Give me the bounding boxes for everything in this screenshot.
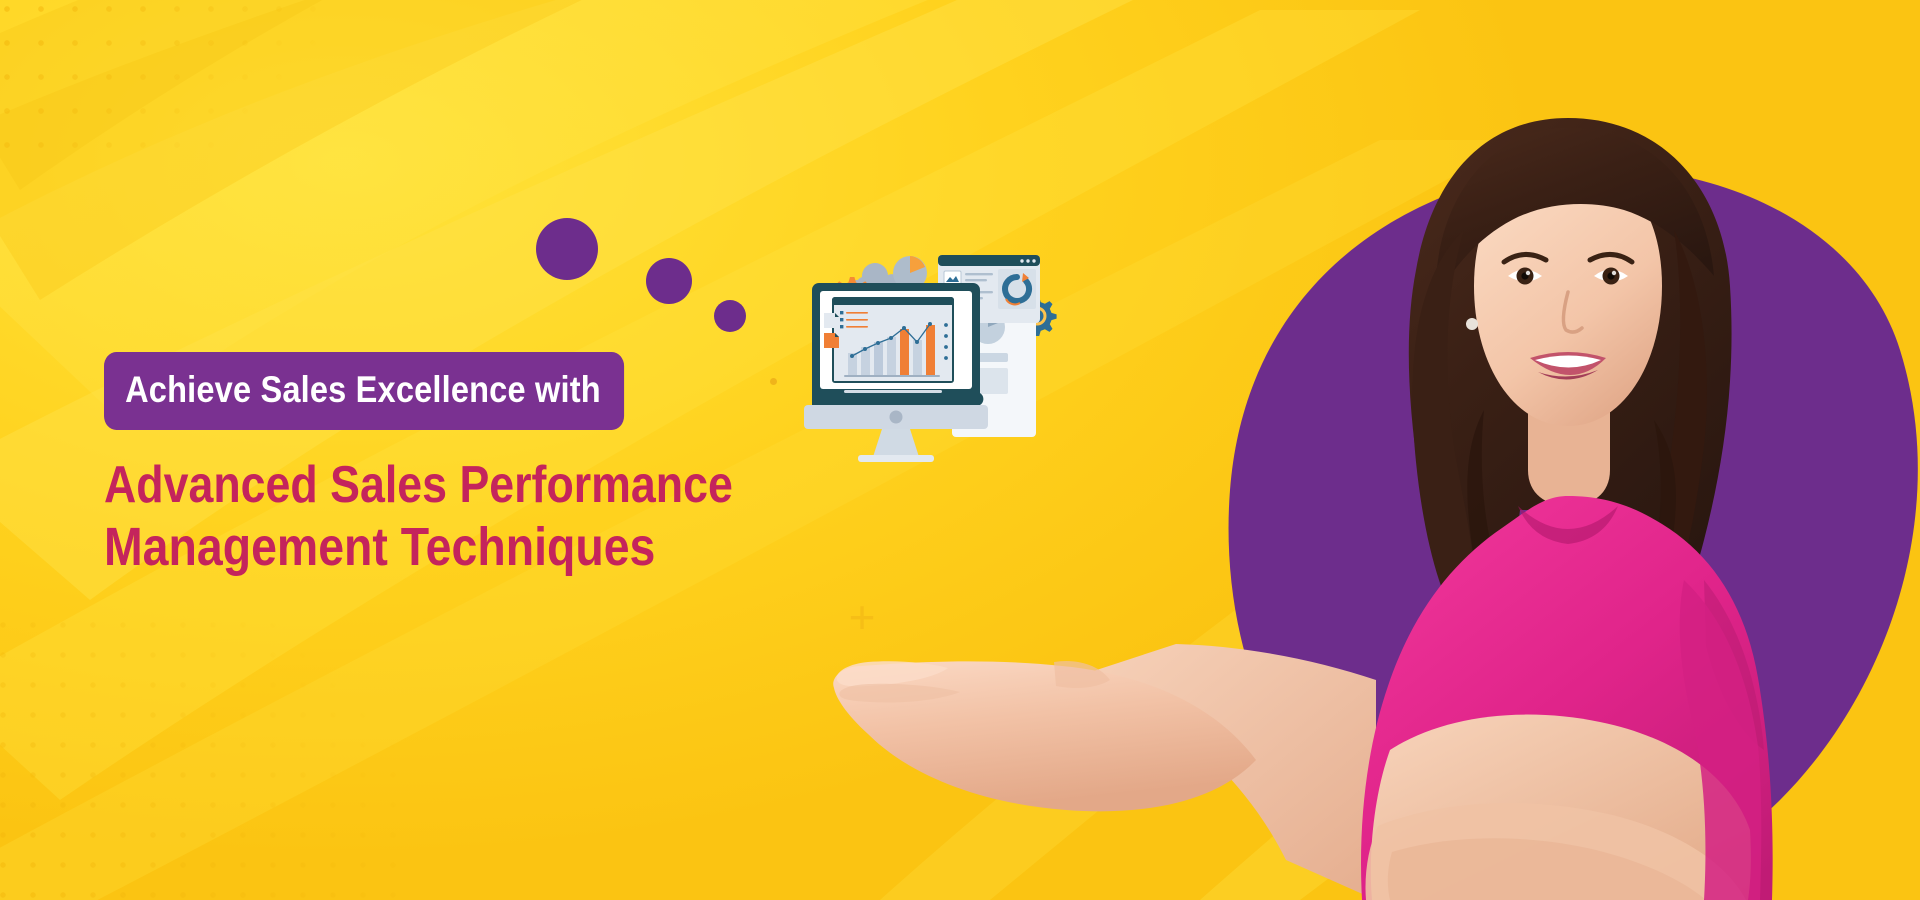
thumb — [1054, 661, 1110, 688]
banner-stage: + Achieve Sales Excellence with Advanced… — [0, 0, 1920, 900]
decorative-circle-small — [714, 300, 746, 332]
background-dot-pattern-bottom-left — [0, 610, 408, 900]
headline-line-2: Management Techniques — [104, 517, 758, 579]
background-dot-pattern-top-left — [0, 0, 320, 162]
page-title: Advanced Sales Performance Management Te… — [104, 456, 758, 579]
earring — [1466, 318, 1478, 330]
chart-card — [832, 297, 954, 383]
headline-line-1: Advanced Sales Performance — [104, 456, 758, 515]
decorative-circle-large — [536, 218, 598, 280]
headline-block: Achieve Sales Excellence with Advanced S… — [104, 352, 864, 579]
hand-holding-monitor — [816, 430, 1376, 900]
model-photo — [1332, 110, 1802, 900]
decorative-circle-medium — [646, 258, 692, 304]
eyebrow-badge: Achieve Sales Excellence with — [104, 352, 624, 430]
monitor-text-line — [844, 390, 942, 393]
